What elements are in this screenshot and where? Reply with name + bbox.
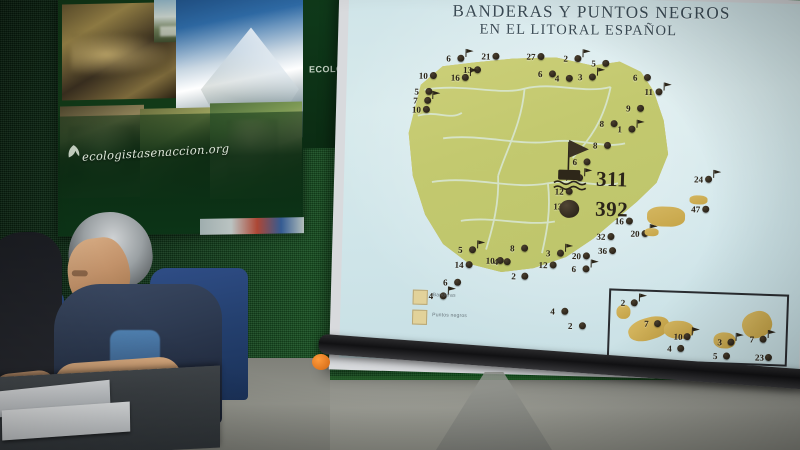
map-point-count: 4: [555, 73, 560, 83]
map-point-count: 1: [617, 124, 622, 134]
inset-point-count: 7: [749, 334, 754, 344]
menorca-shape: [689, 195, 707, 204]
legend-row-puntos: Puntos negros: [412, 310, 508, 330]
inset-point-count: 7: [644, 319, 649, 329]
flag-buoy-icon: [552, 137, 593, 192]
map-legend: Banderas Puntos negros: [412, 290, 509, 333]
map-flag-marker: [591, 260, 600, 268]
map-point-count: 2: [511, 271, 516, 281]
map-point-count: 8: [599, 119, 604, 129]
legend-label-banderas: Banderas: [433, 292, 456, 299]
map-point-count: 5: [458, 245, 463, 255]
map-point-count: 4: [550, 306, 555, 316]
map-point-count: 12: [538, 260, 547, 270]
map-point-count: 16: [451, 73, 460, 83]
legend-swatch-puntos: [412, 310, 427, 325]
map-flag-marker: [664, 82, 673, 90]
inset-point-count: 3: [717, 337, 722, 347]
slide-title: BANDERAS Y PUNTOS NEGROS EN EL LITORAL E…: [406, 1, 776, 42]
inset-point-count: 23: [755, 353, 764, 363]
map-point-count: 9: [626, 103, 631, 113]
map-point-count: 24: [694, 174, 703, 184]
map-point-count: 2: [563, 54, 568, 64]
room-scene: ecologistasenaccion.org ECOLOG BANDERAS …: [0, 0, 800, 450]
photo-poster-panel: ecologistasenaccion.org: [58, 0, 303, 237]
inset-flag-marker: [736, 333, 745, 341]
leaf-icon: [66, 144, 81, 159]
legend-swatch-banderas: [412, 290, 427, 305]
map-flag-marker: [477, 240, 486, 248]
inset-point-marker: [759, 336, 766, 343]
inset-flag-marker: [639, 293, 648, 301]
map-flag-marker: [637, 120, 646, 128]
inset-point-marker: [684, 333, 691, 340]
map-point-count: 6: [538, 69, 543, 79]
slide-title-line1: BANDERAS Y PUNTOS NEGROS: [452, 1, 730, 22]
map-point-count: 10: [412, 104, 421, 114]
projection-screen[interactable]: BANDERAS Y PUNTOS NEGROS EN EL LITORAL E…: [339, 0, 800, 370]
map-point-count: 8: [510, 243, 515, 253]
map-flag-marker: [713, 170, 722, 178]
map-point-count: 5: [591, 58, 596, 68]
legend-label-puntos: Puntos negros: [432, 312, 467, 319]
iberian-peninsula-map: 6212725131664310571061198186712132447162…: [399, 41, 674, 288]
map-flag-marker: [465, 49, 474, 57]
map-point-count: 2: [568, 321, 573, 331]
map-point-count: 36: [598, 246, 607, 256]
map-point-count: 6: [571, 264, 576, 274]
mallorca-shape: [647, 206, 686, 227]
map-point-count: 6: [633, 73, 638, 83]
map-point-count: 8: [593, 141, 598, 151]
slide-title-line2: EN EL LITORAL ESPAÑOL: [380, 20, 776, 42]
inset-point-marker: [631, 299, 638, 306]
map-point-count: 32: [596, 232, 605, 242]
banderas-total: 311: [596, 167, 629, 193]
inset-point-marker: [765, 354, 772, 361]
map-point-count: 27: [526, 52, 535, 62]
map-flag-marker: [582, 49, 591, 57]
map-point-count: 14: [454, 260, 463, 270]
legend-row-banderas: Banderas: [412, 290, 508, 310]
map-point-count: 20: [572, 251, 581, 261]
map-point-count: 4: [494, 257, 499, 267]
map-flag-marker: [432, 91, 441, 99]
map-point-count: 20: [630, 229, 639, 239]
inset-point-count: 2: [621, 298, 626, 308]
inset-flag-marker: [768, 330, 777, 338]
canary-islands-inset: 2710435723: [607, 288, 789, 366]
map-point-count: 21: [481, 51, 490, 61]
inset-point-count: 5: [713, 351, 718, 361]
inset-point-marker: [677, 345, 684, 352]
inset-point-count: 4: [667, 343, 672, 353]
map-flag-marker: [470, 68, 479, 76]
ibiza-shape: [644, 228, 658, 236]
map-point-count: 10: [419, 71, 428, 81]
puntos-negros-total: 392: [595, 197, 629, 223]
balearic-islands: [642, 188, 713, 242]
map-flag-marker: [597, 68, 606, 76]
map-point-count: 3: [546, 248, 551, 258]
inset-point-marker: [723, 352, 730, 359]
inset-flag-marker: [692, 327, 701, 335]
map-point-count: 6: [446, 53, 451, 63]
inset-point-count: 10: [673, 332, 682, 342]
map-point-count: 3: [578, 72, 583, 82]
map-point-count: 11: [644, 87, 653, 97]
